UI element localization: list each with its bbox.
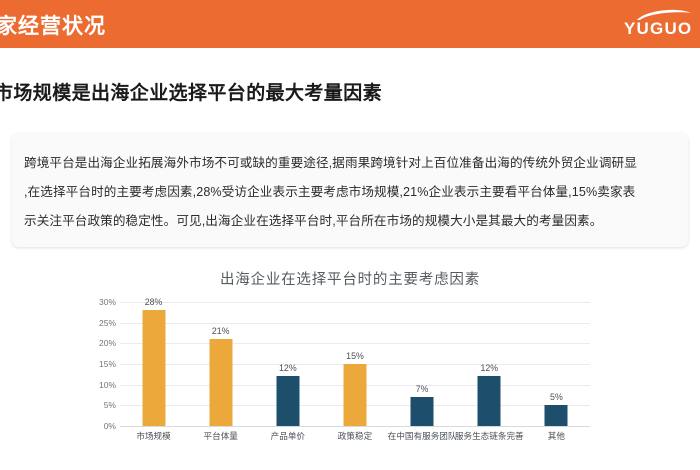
- chart-bar-group[interactable]: 12%服务生态链条完善: [456, 302, 523, 426]
- chart-y-tick-label: 0%: [82, 421, 116, 431]
- page-title: 家经营状况: [0, 10, 106, 40]
- chart-bar-group[interactable]: 15%政策稳定: [321, 302, 388, 426]
- chart-x-tick-label: 其他: [548, 430, 565, 442]
- brand-logo: YUGUO: [624, 8, 700, 42]
- chart-x-tick-label: 政策稳定: [338, 430, 372, 442]
- chart-bar-value-label: 12%: [480, 363, 498, 373]
- chart-y-tick-label: 30%: [82, 297, 116, 307]
- chart-bar[interactable]: [276, 376, 299, 426]
- chart-bar[interactable]: [209, 339, 232, 426]
- chart-bar-value-label: 21%: [212, 326, 230, 336]
- chart-x-tick-label: 服务生态链条完善: [455, 430, 524, 442]
- chart-y-tick-label: 5%: [82, 400, 116, 410]
- chart-plot-area: 0%5%10%15%20%25%30% 28%市场规模21%平台体量12%产品单…: [96, 302, 590, 426]
- brand-wordmark: YUGUO: [624, 19, 692, 39]
- chart-bar[interactable]: [411, 397, 434, 426]
- chart-y-tick-label: 15%: [82, 359, 116, 369]
- chart-title: 出海企业在选择平台时的主要考虑因素: [0, 268, 700, 289]
- chart-x-tick-label: 在中国有服务团队: [388, 430, 457, 442]
- chart-x-tick-label: 平台体量: [204, 430, 238, 442]
- chart-bar[interactable]: [545, 405, 568, 426]
- chart-panel: 出海企业在选择平台时的主要考虑因素 0%5%10%15%20%25%30% 28…: [0, 258, 700, 470]
- body-paragraph: 跨境平台是出海企业拓展海外市场不可或缺的重要途径,据雨果跨境针对上百位准备出海的…: [24, 149, 670, 236]
- chart-bar[interactable]: [478, 376, 501, 426]
- paragraph-line: 跨境平台是出海企业拓展海外市场不可或缺的重要途径,据雨果跨境针对上百位准备出海的…: [24, 149, 670, 178]
- chart-bars: 28%市场规模21%平台体量12%产品单价15%政策稳定7%在中国有服务团队12…: [120, 302, 590, 426]
- chart-bar[interactable]: [343, 364, 366, 426]
- chart-y-tick-label: 25%: [82, 318, 116, 328]
- chart-bar-value-label: 5%: [550, 392, 563, 402]
- chart-gridline: [120, 426, 590, 427]
- chart-bar-group[interactable]: 7%在中国有服务团队: [389, 302, 456, 426]
- chart-bar-value-label: 12%: [279, 363, 297, 373]
- chart-y-tick-label: 10%: [82, 380, 116, 390]
- paragraph-line: 示关注平台政策的稳定性。可见,出海企业在选择平台时,平台所在市场的规模大小是其最…: [24, 207, 670, 236]
- chart-bar-value-label: 7%: [416, 384, 429, 394]
- body-card: 跨境平台是出海企业拓展海外市场不可或缺的重要途径,据雨果跨境针对上百位准备出海的…: [12, 133, 688, 247]
- page-header: 家经营状况 YUGUO: [0, 0, 700, 48]
- chart-bar-value-label: 28%: [145, 297, 163, 307]
- chart-y-tick-label: 20%: [82, 338, 116, 348]
- chart-x-tick-label: 市场规模: [136, 430, 170, 442]
- chart-bar[interactable]: [142, 310, 165, 426]
- chart-x-tick-label: 产品单价: [271, 430, 305, 442]
- section-heading: 市场规模是出海企业选择平台的最大考量因素: [0, 78, 382, 105]
- chart-bar-group[interactable]: 5%其他: [523, 302, 590, 426]
- chart-bar-group[interactable]: 28%市场规模: [120, 302, 187, 426]
- paragraph-line: ,在选择平台时的主要考虑因素,28%受访企业表示主要考虑市场规模,21%企业表示…: [24, 178, 670, 207]
- chart-bar-value-label: 15%: [346, 351, 364, 361]
- chart-bar-group[interactable]: 12%产品单价: [254, 302, 321, 426]
- chart-bar-group[interactable]: 21%平台体量: [187, 302, 254, 426]
